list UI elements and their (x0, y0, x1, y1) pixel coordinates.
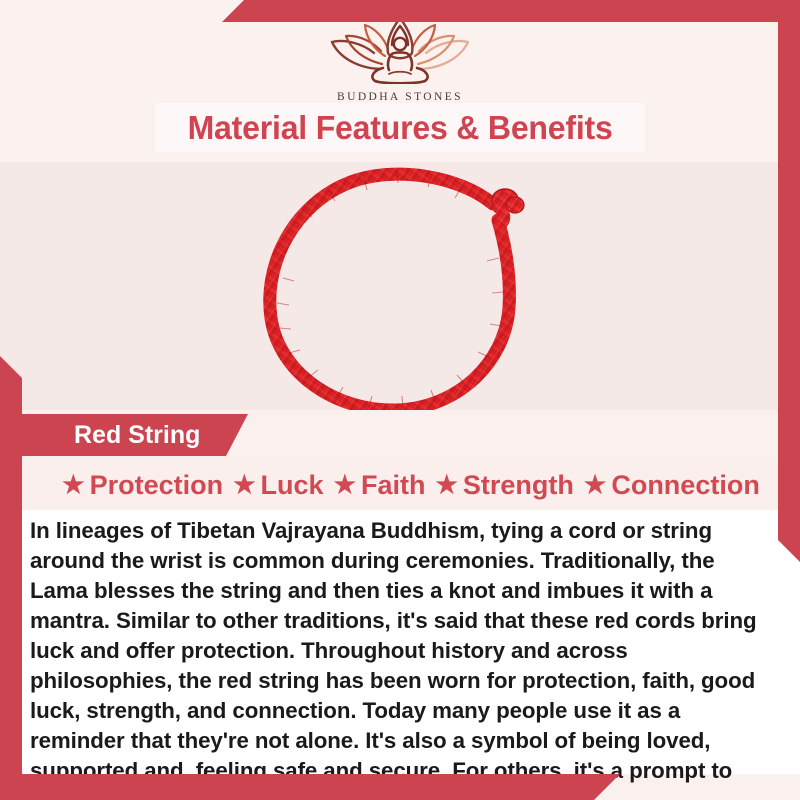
star-icon: ★ (334, 473, 356, 498)
benefit-label: Protection (90, 470, 224, 501)
benefits-row: ★ Protection ★ Luck ★ Faith ★ Strength ★… (22, 460, 800, 510)
benefit-item: ★ Strength (430, 470, 578, 501)
benefit-item: ★ Luck (228, 470, 328, 501)
product-image-area (0, 162, 800, 410)
description-text: In lineages of Tibetan Vajrayana Buddhis… (22, 510, 800, 800)
brand-logo: BUDDHA STONES (0, 12, 800, 103)
benefit-item: ★ Connection (579, 470, 765, 501)
star-icon: ★ (233, 473, 255, 498)
decor-band-right (778, 0, 800, 562)
benefit-item: ★ Faith (329, 470, 431, 501)
star-icon: ★ (62, 473, 84, 498)
brand-name: BUDDHA STONES (337, 91, 463, 103)
decor-band-top (222, 0, 800, 22)
material-label-banner: Red String (22, 414, 248, 456)
benefit-item: ★ Protection (57, 470, 228, 501)
star-icon: ★ (435, 473, 457, 498)
benefit-label: Connection (611, 470, 760, 501)
star-icon: ★ (584, 473, 606, 498)
decor-band-bottom (0, 774, 620, 800)
material-label: Red String (74, 421, 200, 450)
benefit-label: Strength (463, 470, 574, 501)
description-panel: In lineages of Tibetan Vajrayana Buddhis… (22, 510, 800, 774)
infographic-card: BUDDHA STONES Material Features & Benefi… (0, 0, 800, 800)
page-title: Material Features & Benefits (187, 109, 612, 147)
title-banner: Material Features & Benefits (155, 103, 645, 152)
header-section: BUDDHA STONES Material Features & Benefi… (0, 0, 800, 162)
benefit-label: Faith (361, 470, 426, 501)
decor-band-left (0, 356, 22, 800)
lotus-meditation-icon (325, 12, 475, 89)
benefit-label: Luck (261, 470, 324, 501)
